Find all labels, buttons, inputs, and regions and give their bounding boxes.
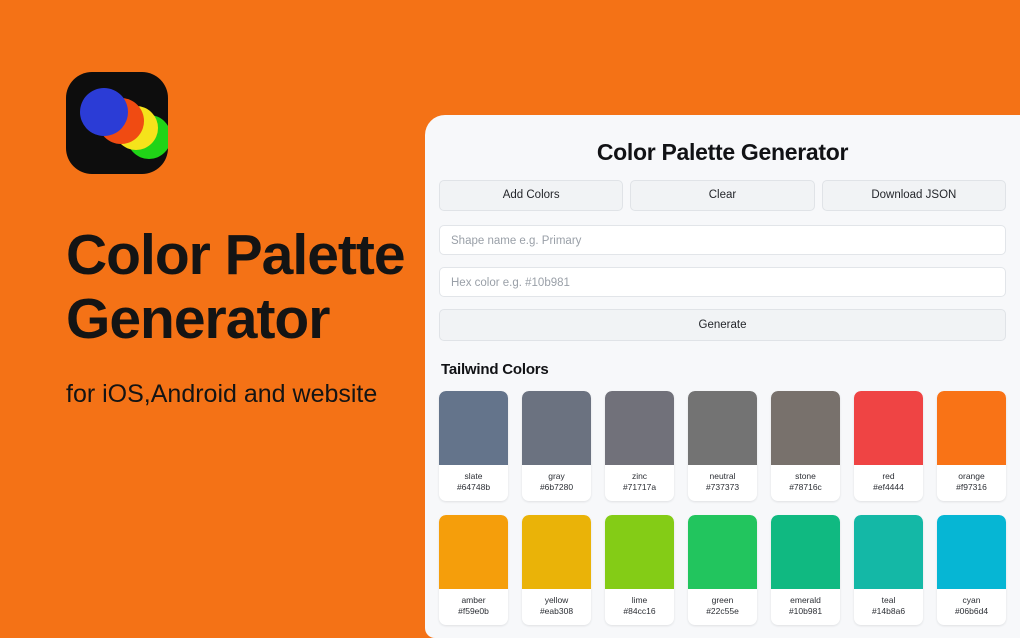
download-json-button[interactable]: Download JSON — [822, 180, 1006, 211]
swatch-name: lime — [605, 595, 674, 606]
swatch-meta: green #22c55e — [688, 589, 757, 625]
swatch-name: neutral — [688, 471, 757, 482]
swatch-color-red — [854, 391, 923, 465]
action-button-row: Add Colors Clear Download JSON — [439, 180, 1006, 211]
blue-circle-icon — [80, 88, 128, 136]
swatch-color-amber — [439, 515, 508, 589]
add-colors-button[interactable]: Add Colors — [439, 180, 623, 211]
swatch-card[interactable]: green #22c55e — [688, 515, 757, 625]
swatch-name: slate — [439, 471, 508, 482]
swatch-color-yellow — [522, 515, 591, 589]
swatch-color-green — [688, 515, 757, 589]
swatch-card[interactable]: emerald #10b981 — [771, 515, 840, 625]
swatch-color-emerald — [771, 515, 840, 589]
hex-color-input[interactable]: Hex color e.g. #10b981 — [439, 267, 1006, 297]
swatch-hex: #f59e0b — [439, 606, 508, 617]
tailwind-colors-heading: Tailwind Colors — [441, 361, 1006, 378]
shape-name-input[interactable]: Shape name e.g. Primary — [439, 225, 1006, 255]
swatch-name: zinc — [605, 471, 674, 482]
swatch-color-neutral — [688, 391, 757, 465]
swatch-color-teal — [854, 515, 923, 589]
swatch-hex: #f97316 — [937, 482, 1006, 493]
swatch-hex: #64748b — [439, 482, 508, 493]
swatch-hex: #22c55e — [688, 606, 757, 617]
swatch-hex: #6b7280 — [522, 482, 591, 493]
swatch-card[interactable]: gray #6b7280 — [522, 391, 591, 501]
swatch-meta: slate #64748b — [439, 465, 508, 501]
swatch-hex: #71717a — [605, 482, 674, 493]
swatch-hex: #78716c — [771, 482, 840, 493]
clear-button[interactable]: Clear — [630, 180, 814, 211]
swatch-name: gray — [522, 471, 591, 482]
swatch-meta: red #ef4444 — [854, 465, 923, 501]
swatch-color-slate — [439, 391, 508, 465]
swatch-meta: lime #84cc16 — [605, 589, 674, 625]
swatch-color-stone — [771, 391, 840, 465]
swatch-name: emerald — [771, 595, 840, 606]
swatch-meta: amber #f59e0b — [439, 589, 508, 625]
swatch-card[interactable]: slate #64748b — [439, 391, 508, 501]
swatch-meta: gray #6b7280 — [522, 465, 591, 501]
swatch-hex: #10b981 — [771, 606, 840, 617]
swatch-row-1: slate #64748b gray #6b7280 zinc #71717a — [439, 391, 1006, 501]
swatch-meta: zinc #71717a — [605, 465, 674, 501]
promo-screenshot: Color Palette Generator for iOS,Android … — [0, 0, 1020, 638]
promo-panel: Color Palette Generator for iOS,Android … — [0, 0, 430, 638]
promo-headline: Color Palette Generator — [66, 224, 426, 352]
swatch-hex: #ef4444 — [854, 482, 923, 493]
swatch-name: amber — [439, 595, 508, 606]
swatch-hex: #06b6d4 — [937, 606, 1006, 617]
swatch-card[interactable]: stone #78716c — [771, 391, 840, 501]
color-palette-app-icon — [66, 72, 168, 174]
swatch-name: stone — [771, 471, 840, 482]
swatch-card[interactable]: amber #f59e0b — [439, 515, 508, 625]
swatch-meta: teal #14b8a6 — [854, 589, 923, 625]
swatch-name: green — [688, 595, 757, 606]
swatch-name: orange — [937, 471, 1006, 482]
swatch-color-lime — [605, 515, 674, 589]
swatch-color-orange — [937, 391, 1006, 465]
swatch-meta: yellow #eab308 — [522, 589, 591, 625]
swatch-color-cyan — [937, 515, 1006, 589]
swatch-name: yellow — [522, 595, 591, 606]
swatch-meta: orange #f97316 — [937, 465, 1006, 501]
app-window: Color Palette Generator Add Colors Clear… — [425, 115, 1020, 638]
swatch-card[interactable]: yellow #eab308 — [522, 515, 591, 625]
generate-button[interactable]: Generate — [439, 309, 1006, 341]
swatch-card[interactable]: lime #84cc16 — [605, 515, 674, 625]
swatch-card[interactable]: zinc #71717a — [605, 391, 674, 501]
swatch-name: cyan — [937, 595, 1006, 606]
swatch-hex: #84cc16 — [605, 606, 674, 617]
swatch-meta: neutral #737373 — [688, 465, 757, 501]
swatch-hex: #14b8a6 — [854, 606, 923, 617]
swatch-meta: stone #78716c — [771, 465, 840, 501]
swatch-card[interactable]: teal #14b8a6 — [854, 515, 923, 625]
swatch-meta: emerald #10b981 — [771, 589, 840, 625]
promo-subhead: for iOS,Android and website — [66, 378, 396, 411]
swatch-meta: cyan #06b6d4 — [937, 589, 1006, 625]
swatch-card[interactable]: orange #f97316 — [937, 391, 1006, 501]
swatch-hex: #eab308 — [522, 606, 591, 617]
page-title: Color Palette Generator — [439, 139, 1006, 166]
swatch-hex: #737373 — [688, 482, 757, 493]
swatch-color-gray — [522, 391, 591, 465]
swatch-card[interactable]: cyan #06b6d4 — [937, 515, 1006, 625]
swatch-card[interactable]: red #ef4444 — [854, 391, 923, 501]
swatch-name: teal — [854, 595, 923, 606]
swatch-color-zinc — [605, 391, 674, 465]
swatch-name: red — [854, 471, 923, 482]
swatch-card[interactable]: neutral #737373 — [688, 391, 757, 501]
swatch-row-2: amber #f59e0b yellow #eab308 lime #84cc1… — [439, 515, 1006, 625]
